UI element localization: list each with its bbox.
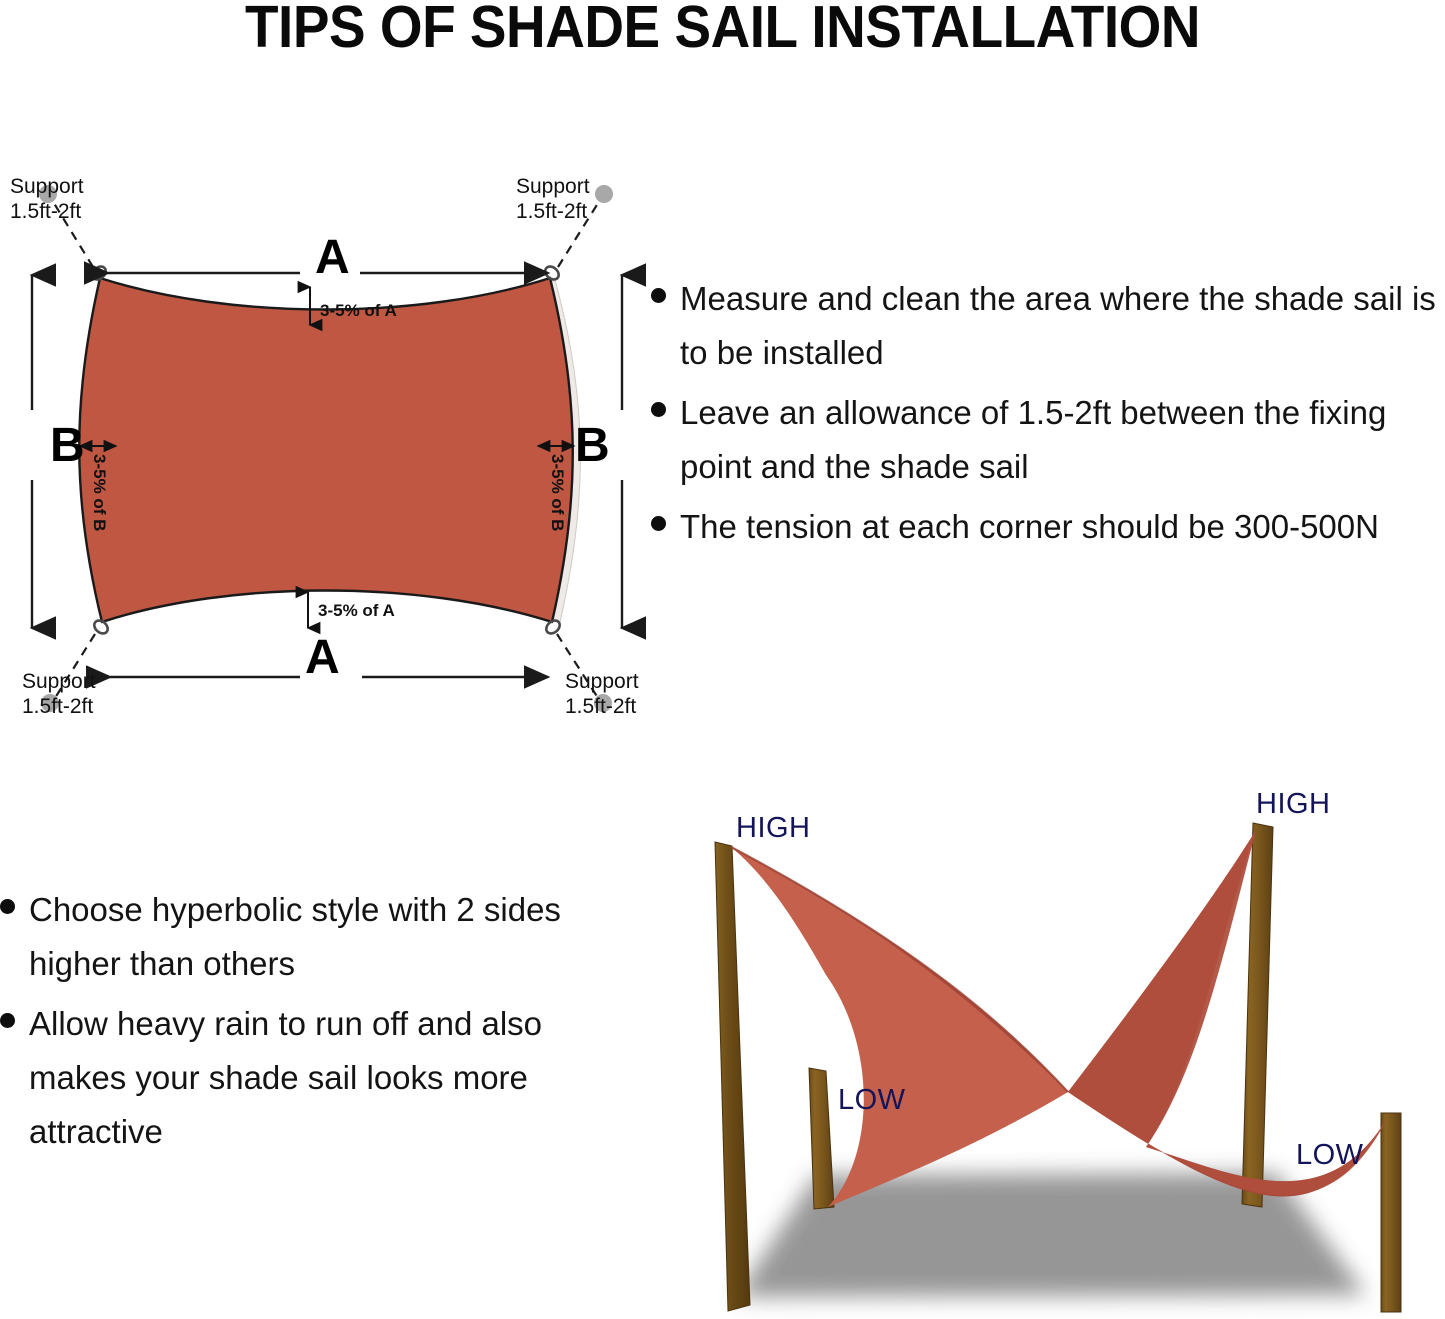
list-item: Choose hyperbolic style with 2 sides hig… bbox=[0, 883, 630, 991]
rectangular-sail-diagram: Support 1.5ft-2ft Support 1.5ft-2ft Supp… bbox=[0, 150, 660, 730]
list-item: Leave an allowance of 1.5-2ft between th… bbox=[651, 386, 1445, 494]
list-item: Allow heavy rain to run off and also mak… bbox=[0, 997, 630, 1159]
post-low-right bbox=[1381, 1113, 1401, 1312]
bullet-dot-icon bbox=[0, 899, 15, 914]
dimension-label-b-right: B bbox=[575, 422, 610, 470]
label-low-left: LOW bbox=[838, 1085, 906, 1115]
bullet-dot-icon bbox=[651, 402, 666, 417]
sail-body bbox=[79, 278, 573, 622]
dimension-label-b-left: B bbox=[50, 422, 85, 470]
bullet-dot-icon bbox=[0, 1013, 15, 1028]
installation-tips-list: Measure and clean the area where the sha… bbox=[651, 272, 1445, 560]
sail-panel-front bbox=[731, 847, 1068, 1207]
list-item: The tension at each corner should be 300… bbox=[651, 500, 1445, 554]
list-item-text: Allow heavy rain to run off and also mak… bbox=[29, 997, 630, 1159]
bullet-dot-icon bbox=[651, 288, 666, 303]
page-title: TIPS OF SHADE SAIL INSTALLATION bbox=[51, 0, 1395, 60]
support-label-bottom-right: Support 1.5ft-2ft bbox=[565, 669, 639, 719]
hyperbolic-scene-svg bbox=[676, 775, 1445, 1319]
list-item: Measure and clean the area where the sha… bbox=[651, 272, 1445, 380]
list-item-text: The tension at each corner should be 300… bbox=[680, 500, 1379, 554]
sag-label-a-top: 3-5% of A bbox=[320, 302, 397, 320]
hyperbolic-style-tips-list: Choose hyperbolic style with 2 sides hig… bbox=[0, 883, 630, 1165]
label-high-right: HIGH bbox=[1256, 789, 1331, 819]
post-high-left bbox=[715, 842, 750, 1311]
label-low-right: LOW bbox=[1296, 1140, 1364, 1170]
support-label-top-right: Support 1.5ft-2ft bbox=[516, 174, 590, 224]
bullet-dot-icon bbox=[651, 516, 666, 531]
post-low-left bbox=[809, 1068, 834, 1209]
hyperbolic-sail-scene: HIGH HIGH LOW LOW bbox=[676, 775, 1445, 1319]
list-item-text: Choose hyperbolic style with 2 sides hig… bbox=[29, 883, 630, 991]
support-label-top-left: Support 1.5ft-2ft bbox=[10, 174, 84, 224]
sag-label-b-right: 3-5% of B bbox=[548, 454, 566, 531]
dimension-label-a-bottom: A bbox=[305, 634, 340, 682]
label-high-left: HIGH bbox=[736, 813, 811, 843]
post-high-right bbox=[1242, 823, 1273, 1207]
support-label-bottom-left: Support 1.5ft-2ft bbox=[22, 669, 96, 719]
sag-label-a-bottom: 3-5% of A bbox=[318, 602, 395, 620]
dimension-label-a-top: A bbox=[315, 234, 350, 282]
list-item-text: Measure and clean the area where the sha… bbox=[680, 272, 1445, 380]
list-item-text: Leave an allowance of 1.5-2ft between th… bbox=[680, 386, 1445, 494]
sag-label-b-left: 3-5% of B bbox=[90, 454, 108, 531]
